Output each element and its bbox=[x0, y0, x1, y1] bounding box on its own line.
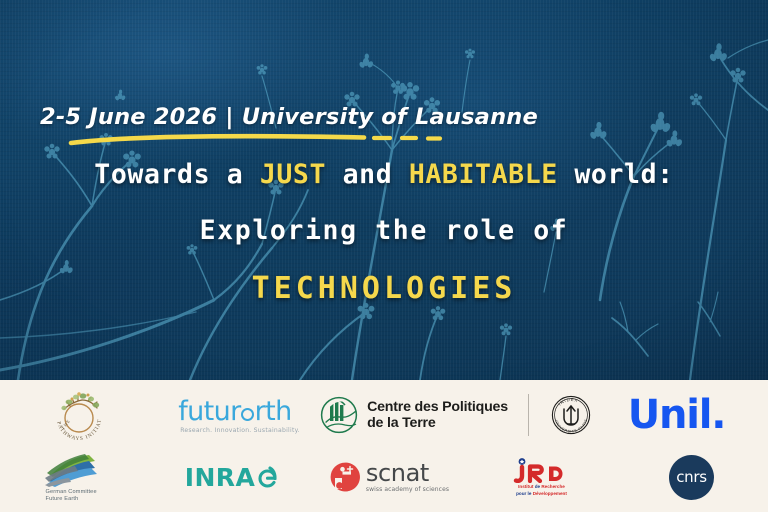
future-earth-word-b: rth bbox=[255, 397, 292, 426]
unil-wordmark: Unil. bbox=[628, 395, 726, 435]
gc-line-2: Future Earth bbox=[46, 496, 97, 503]
scnat-tagline: swiss academy of sciences bbox=[366, 486, 449, 493]
gc-line-1: German Committee bbox=[46, 489, 97, 496]
logo-german-committee-future-earth[interactable]: German Committee Future Earth bbox=[2, 446, 152, 508]
event-date-venue-block: 2-5 June 2026 | University of Lausanne bbox=[40, 104, 730, 130]
upc-arc-top: INIDEX bbox=[557, 397, 579, 407]
logo-scnat[interactable]: scnat swiss academy of sciences bbox=[312, 446, 467, 508]
hero-background: 2-5 June 2026 | University of Lausanne T… bbox=[0, 0, 768, 380]
inrae-letters: INRA bbox=[185, 463, 255, 492]
conference-poster: 2-5 June 2026 | University of Lausanne T… bbox=[0, 0, 768, 512]
ird-tag-2a: pour le bbox=[516, 491, 531, 496]
svg-text:INIDEX: INIDEX bbox=[557, 397, 579, 407]
poster-title-block: Towards a JUST and HABITABLE world: Expl… bbox=[0, 158, 768, 308]
inrae-wordmark: INRA bbox=[185, 463, 278, 492]
ird-tag-1c: Recherche bbox=[541, 484, 565, 489]
german-committee-wordmark: German Committee Future Earth bbox=[45, 489, 97, 504]
title-highlight-technologies: TECHNOLOGIES bbox=[252, 271, 517, 306]
logo-divider bbox=[528, 394, 529, 436]
logo-future-earth[interactable]: futurrth Research. Innovation. Sustainab… bbox=[154, 384, 324, 446]
ird-tag-1a: Institut bbox=[518, 484, 533, 489]
inrae-e-glyph-icon bbox=[256, 465, 278, 489]
title-highlight-habitable: HABITABLE bbox=[409, 159, 558, 190]
cpt-line-1: Centre des Politiques bbox=[367, 399, 508, 416]
title-line1-post: world: bbox=[558, 159, 674, 190]
sponsor-logo-row-1: PATHWAYS INITIATIVE THE futurrth Researc… bbox=[0, 384, 768, 446]
centre-politiques-terre-wordmark: Centre des Politiques de la Terre bbox=[367, 399, 508, 432]
german-committee-waves-icon bbox=[45, 451, 109, 487]
scnat-wordmark: scnat bbox=[366, 461, 429, 485]
ird-wordmark-icon bbox=[513, 457, 571, 483]
ird-tagline-line-2: pour le Développement bbox=[516, 491, 567, 497]
cnrs-badge: cnrs bbox=[669, 455, 714, 500]
event-date-venue: 2-5 June 2026 | University of Lausanne bbox=[40, 104, 730, 130]
title-line-3: TECHNOLOGIES bbox=[0, 270, 768, 308]
future-earth-tagline: Research. Innovation. Sustainability. bbox=[178, 427, 300, 434]
title-line-1: Towards a JUST and HABITABLE world: bbox=[0, 158, 768, 192]
yellow-underline-stroke bbox=[68, 132, 478, 148]
scnat-icon bbox=[329, 461, 361, 493]
future-earth-wordmark: futurrth bbox=[178, 397, 291, 426]
logo-cnrs[interactable]: cnrs bbox=[617, 446, 767, 508]
title-line-2: Exploring the role of bbox=[0, 214, 768, 248]
logo-unil[interactable]: Unil. bbox=[589, 384, 764, 446]
sponsor-footer: PATHWAYS INITIATIVE THE futurrth Researc… bbox=[0, 380, 768, 512]
sponsor-logo-row-2: German Committee Future Earth INRA bbox=[0, 446, 768, 508]
logo-pathways-initiative[interactable]: PATHWAYS INITIATIVE THE bbox=[4, 384, 154, 446]
universite-paris-cite-seal-icon[interactable]: INIDEX UNIVERSITE PARIS CITE bbox=[549, 393, 593, 437]
ird-tagline: Institut de Recherche pour le Développem… bbox=[516, 484, 567, 496]
cnrs-wordmark: cnrs bbox=[676, 468, 707, 486]
future-earth-word-a: futur bbox=[178, 397, 240, 426]
title-highlight-just: JUST bbox=[260, 159, 326, 190]
title-line1-pre: Towards a bbox=[94, 159, 260, 190]
centre-politiques-terre-icon bbox=[320, 396, 358, 434]
future-earth-ring-icon bbox=[241, 408, 254, 421]
title-line1-mid: and bbox=[326, 159, 409, 190]
ird-tag-2b: Développement bbox=[533, 491, 567, 496]
logo-inrae[interactable]: INRA bbox=[152, 446, 312, 508]
ird-tag-1b: de bbox=[535, 484, 540, 489]
pathways-initiative-icon: PATHWAYS INITIATIVE THE bbox=[48, 387, 110, 443]
cpt-line-2: de la Terre bbox=[367, 415, 508, 432]
logo-ird[interactable]: Institut de Recherche pour le Développem… bbox=[467, 446, 617, 508]
logo-centre-politiques-terre[interactable]: Centre des Politiques de la Terre bbox=[324, 384, 589, 446]
